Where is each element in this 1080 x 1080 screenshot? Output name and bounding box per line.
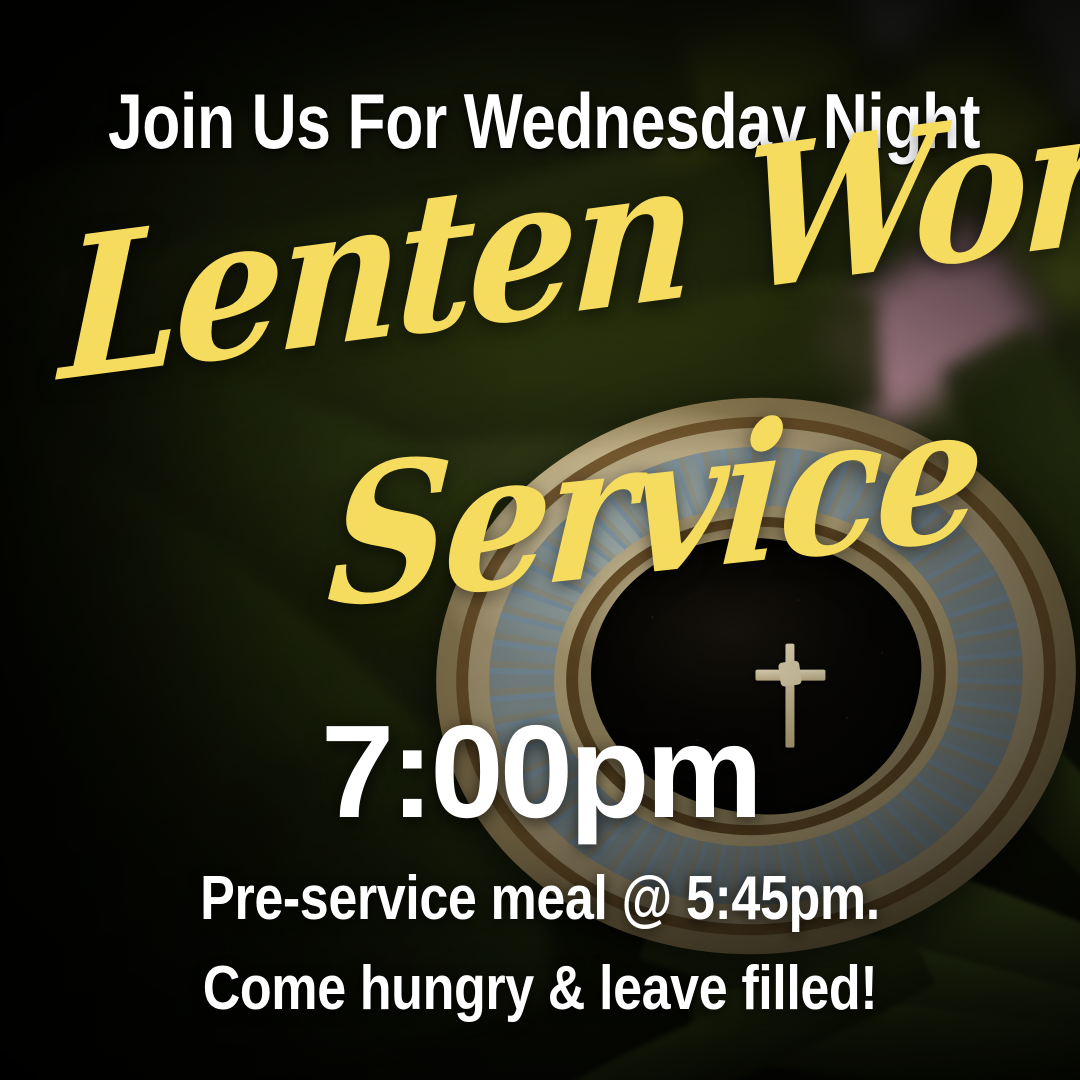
lenten-worship-flyer: Join Us For Wednesday Night Lenten Worsh… bbox=[0, 0, 1080, 1080]
service-time-text: 7:00pm bbox=[0, 706, 1080, 838]
detail-text-line-2: Come hungry & leave filled! bbox=[86, 958, 993, 1020]
detail-text-line-1: Pre-service meal @ 5:45pm. bbox=[86, 868, 993, 930]
script-title-line-2: Service bbox=[324, 383, 985, 627]
